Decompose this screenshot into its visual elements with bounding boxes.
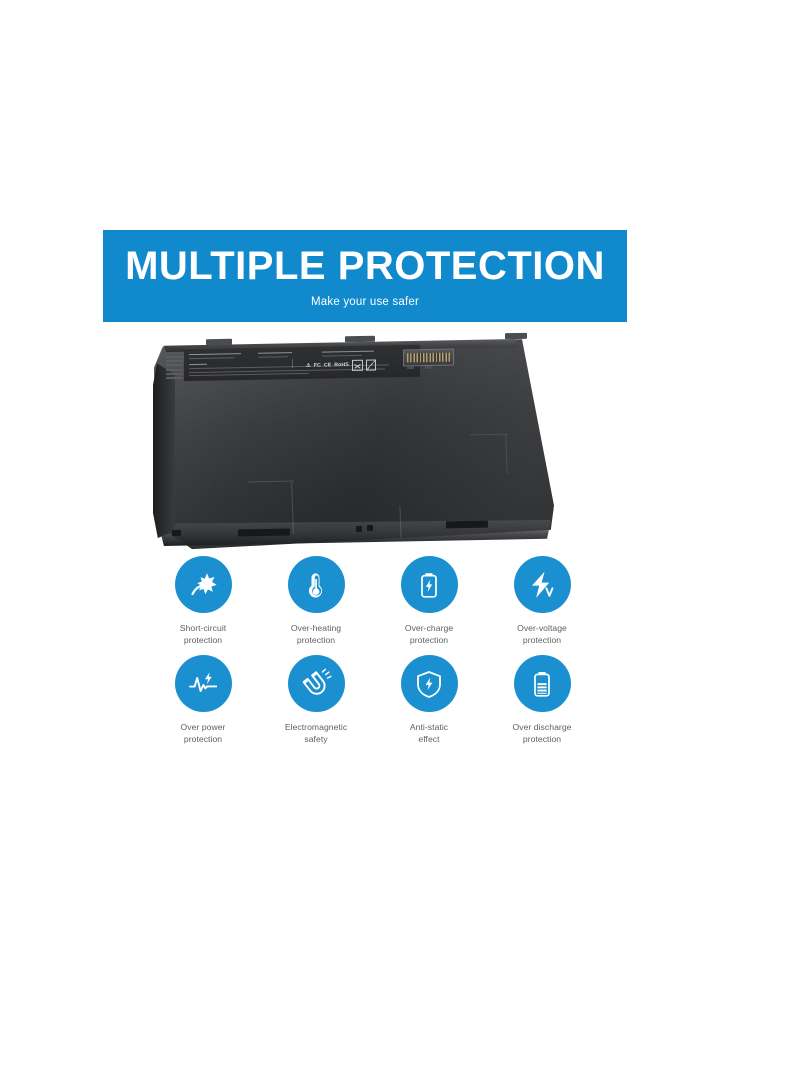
feature-icon-circle bbox=[401, 556, 458, 613]
battery-bottom-clip bbox=[446, 521, 488, 529]
feature-grid: Short-circuit protection Over-heating pr… bbox=[148, 556, 588, 746]
banner: MULTIPLE PROTECTION Make your use safer bbox=[103, 230, 627, 322]
battery-latch-nub bbox=[505, 333, 527, 339]
feature-label: Electromagnetic safety bbox=[261, 721, 371, 745]
feature-icon-circle bbox=[514, 655, 571, 712]
battery-front-bevel bbox=[156, 520, 551, 546]
battery-bottom-clip bbox=[356, 526, 362, 532]
ce-mark: CE bbox=[324, 363, 331, 368]
product-image: ⚠ FC CE RoHS bbox=[148, 330, 568, 555]
thermometer-icon bbox=[301, 570, 331, 600]
feature-label: Over-voltage protection bbox=[487, 622, 597, 646]
lightning-volt-icon bbox=[526, 569, 558, 601]
feature-electromagnetic-safety: Electromagnetic safety bbox=[261, 655, 371, 745]
battery-bottom-clip bbox=[172, 530, 181, 536]
banner-title: MULTIPLE PROTECTION bbox=[103, 242, 627, 290]
weee-bin-icon bbox=[366, 359, 376, 370]
product-infographic-page: MULTIPLE PROTECTION Make your use safer bbox=[0, 0, 800, 1091]
battery-latch-nub bbox=[206, 339, 232, 345]
crossed-box-icon bbox=[352, 360, 363, 371]
feature-over-discharge: Over discharge protection bbox=[487, 655, 597, 745]
feature-over-heating: Over-heating protection bbox=[261, 556, 371, 646]
feature-icon-circle bbox=[175, 556, 232, 613]
connector-foot bbox=[407, 366, 414, 369]
feature-short-circuit: Short-circuit protection bbox=[148, 556, 258, 646]
feature-icon-circle bbox=[175, 655, 232, 712]
feature-label: Anti-static effect bbox=[374, 721, 484, 745]
magnet-icon bbox=[300, 668, 332, 700]
battery-bottom-clip bbox=[367, 525, 373, 531]
battery-level-icon bbox=[527, 669, 557, 699]
feature-icon-circle bbox=[401, 655, 458, 712]
battery-bottom-clip bbox=[238, 529, 290, 537]
feature-label: Over-charge protection bbox=[374, 622, 484, 646]
feature-icon-circle bbox=[288, 556, 345, 613]
feature-over-charge: Over-charge protection bbox=[374, 556, 484, 646]
certification-marks: ⚠ FC CE RoHS bbox=[306, 359, 390, 372]
banner-subtitle: Make your use safer bbox=[103, 296, 627, 308]
battery-left-endcap bbox=[153, 360, 175, 538]
feature-label: Over discharge protection bbox=[487, 721, 597, 745]
feature-over-power: Over power protection bbox=[148, 655, 258, 745]
connector-pins bbox=[407, 353, 450, 363]
feature-over-voltage: Over-voltage protection bbox=[487, 556, 597, 646]
feature-icon-circle bbox=[514, 556, 571, 613]
warning-triangle-icon: ⚠ bbox=[306, 364, 311, 369]
feature-label: Short-circuit protection bbox=[148, 622, 258, 646]
shield-bolt-icon bbox=[414, 669, 444, 699]
fcc-mark: FC bbox=[314, 363, 321, 368]
connector-foot bbox=[425, 366, 432, 369]
feature-icon-circle bbox=[288, 655, 345, 712]
feature-label: Over power protection bbox=[148, 721, 258, 745]
feature-label: Over-heating protection bbox=[261, 622, 371, 646]
battery-charge-icon bbox=[414, 570, 444, 600]
short-circuit-icon bbox=[188, 570, 218, 600]
battery-latch-nub bbox=[345, 336, 375, 343]
battery-vent-slots bbox=[166, 356, 183, 382]
rohs-mark: RoHS bbox=[334, 363, 349, 368]
power-waveform-icon bbox=[187, 668, 219, 700]
feature-anti-static: Anti-static effect bbox=[374, 655, 484, 745]
battery-connector bbox=[403, 349, 454, 367]
